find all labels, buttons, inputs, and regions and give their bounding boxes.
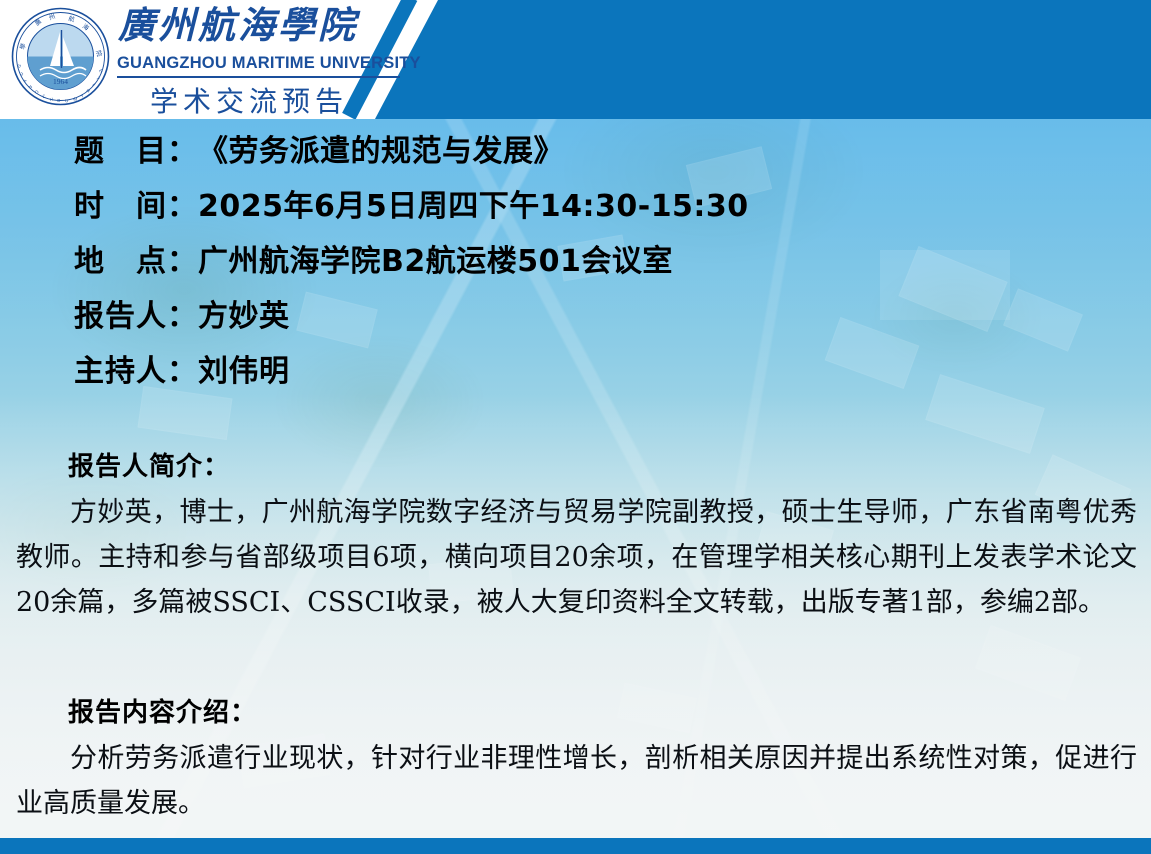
info-value: 方妙英: [198, 291, 290, 335]
academic-lecture-poster: 1964 廣 州 航 海 學 院 G U A N G Z H O U M A: [0, 0, 1151, 854]
speaker-bio-section: 报告人简介： 方妙英，博士，广州航海学院数字经济与贸易学院副教授，硕士生导师，广…: [0, 448, 1151, 625]
svg-text:1964: 1964: [53, 77, 68, 86]
talk-content-section: 报告内容介绍： 分析劳务派遣行业现状，针对行业非理性增长，剖析相关原因并提出系统…: [0, 694, 1151, 826]
speaker-bio-heading: 报告人简介：: [0, 448, 1151, 486]
university-crest-sailboat-icon: 1964 廣 州 航 海 學 院 G U A N G Z H O U M A: [10, 6, 111, 107]
info-label: 时 间：: [74, 181, 198, 225]
info-row-host: 主持人： 刘伟明: [0, 346, 1151, 401]
university-name-en: GUANGZHOU MARITIME UNIVERSITY: [117, 54, 421, 73]
lecture-info-block: 题 目： 《劳务派遣的规范与发展》 时 间： 2025年6月5日周四下午14:3…: [0, 126, 1151, 401]
info-value: 刘伟明: [198, 346, 290, 390]
info-label: 报告人：: [74, 291, 198, 335]
info-label: 主持人：: [74, 346, 198, 390]
info-label: 地 点：: [74, 236, 198, 280]
header-rule: [117, 76, 400, 78]
info-value: 2025年6月5日周四下午14:30-15:30: [198, 181, 749, 225]
info-row-speaker: 报告人： 方妙英: [0, 291, 1151, 346]
talk-content-text: 分析劳务派遣行业现状，针对行业非理性增长，剖析相关原因并提出系统性对策，促进行业…: [0, 732, 1151, 826]
speaker-bio-text: 方妙英，博士，广州航海学院数字经济与贸易学院副教授，硕士生导师，广东省南粤优秀教…: [0, 486, 1151, 625]
info-label: 题 目：: [74, 126, 198, 170]
info-value: 《劳务派遣的规范与发展》: [198, 126, 564, 170]
talk-content-heading: 报告内容介绍：: [0, 694, 1151, 732]
info-row-time: 时 间： 2025年6月5日周四下午14:30-15:30: [0, 181, 1151, 236]
info-row-location: 地 点： 广州航海学院B2航运楼501会议室: [0, 236, 1151, 291]
info-value: 广州航海学院B2航运楼501会议室: [198, 236, 673, 280]
info-row-title: 题 目： 《劳务派遣的规范与发展》: [0, 126, 1151, 181]
poster-header: 1964 廣 州 航 海 學 院 G U A N G Z H O U M A: [0, 0, 1151, 119]
banner-subtitle: 学术交流预告: [150, 80, 348, 119]
university-name-cn: 廣州航海學院: [118, 3, 358, 47]
footer-accent-bar: [0, 838, 1151, 854]
